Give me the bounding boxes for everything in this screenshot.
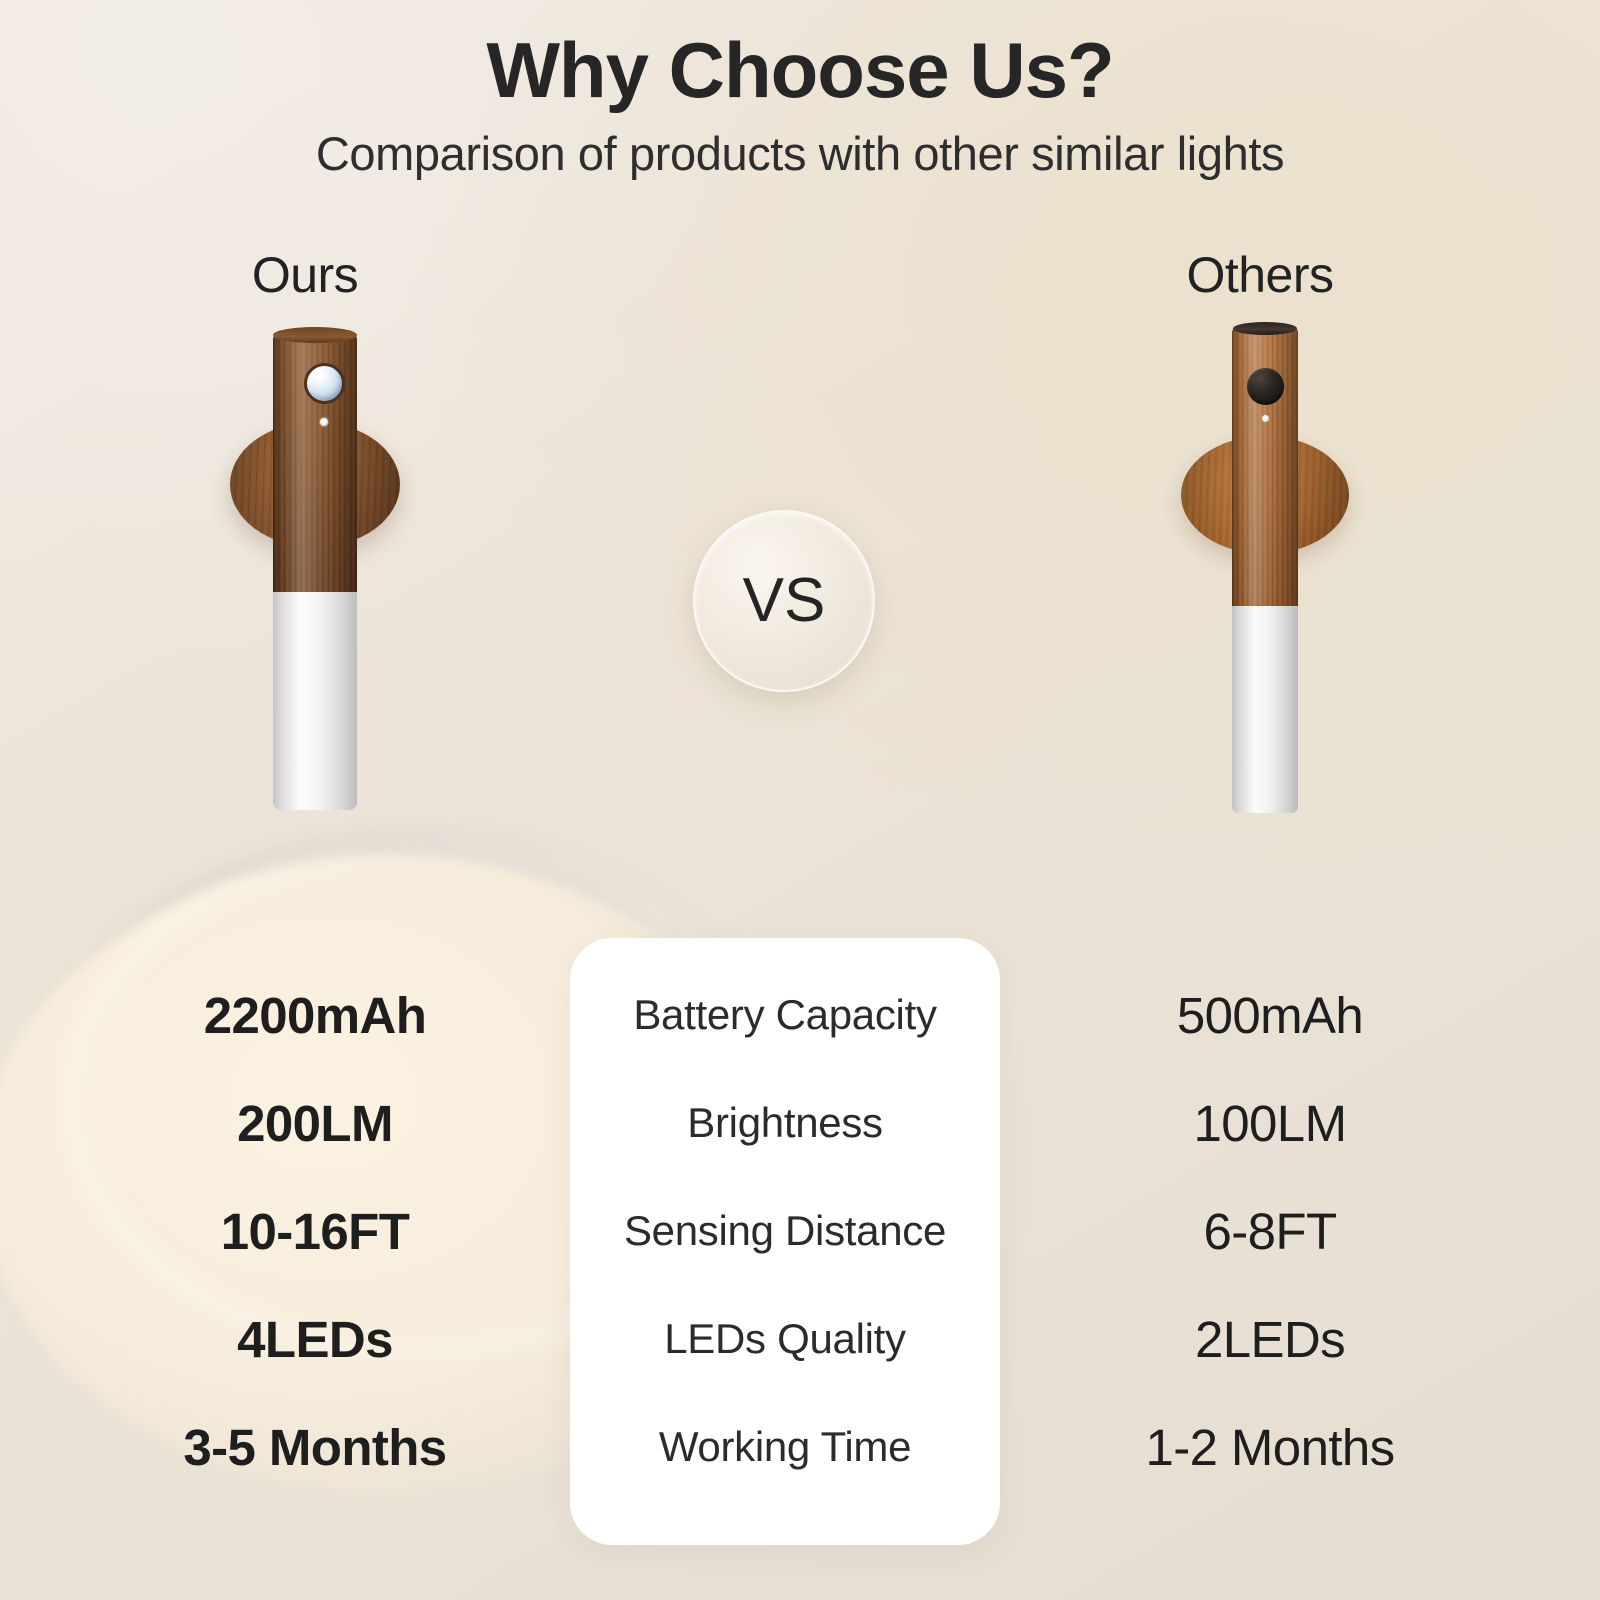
page-title: Why Choose Us? [0,28,1600,112]
cell-ours-value: 4LEDs [110,1284,520,1394]
page-subtitle: Comparison of products with other simila… [0,126,1600,181]
cell-others-value: 500mAh [1060,960,1480,1070]
vs-label: VS [743,570,826,632]
cell-feature-label: Brightness [570,1068,1000,1178]
cell-ours-value: 2200mAh [110,960,520,1070]
cylinder-top-cap-icon [1233,322,1297,335]
led-indicator-dot-icon [320,418,328,426]
white-lower-body-icon [273,592,357,810]
white-lower-body-icon [1232,606,1298,813]
column-header-others: Others [1060,246,1460,304]
header: Why Choose Us? Comparison of products wi… [0,28,1600,181]
cell-others-value: 100LM [1060,1068,1480,1178]
table-row: 200LM Brightness 100LM [0,1068,1600,1178]
cell-ours-value: 3-5 Months [110,1392,520,1502]
column-header-ours: Ours [105,246,505,304]
cell-feature-label: Battery Capacity [570,960,1000,1070]
cell-feature-label: LEDs Quality [570,1284,1000,1394]
cell-others-value: 2LEDs [1060,1284,1480,1394]
table-row: 2200mAh Battery Capacity 500mAh [0,960,1600,1070]
table-row: 3-5 Months Working Time 1-2 Months [0,1392,1600,1502]
led-indicator-dot-icon [1262,415,1269,422]
dark-sensor-dome-icon [1247,368,1284,405]
product-image-others [1175,318,1355,813]
table-row: 10-16FT Sensing Distance 6-8FT [0,1176,1600,1286]
cell-others-value: 1-2 Months [1060,1392,1480,1502]
cell-feature-label: Sensing Distance [570,1176,1000,1286]
cell-feature-label: Working Time [570,1392,1000,1502]
pir-motion-sensor-lens-icon [304,363,345,404]
table-row: 4LEDs LEDs Quality 2LEDs [0,1284,1600,1394]
cylinder-top-cap-icon [273,327,357,343]
infographic-canvas: Why Choose Us? Comparison of products wi… [0,0,1600,1600]
product-image-ours [225,330,405,810]
cell-ours-value: 10-16FT [110,1176,520,1286]
vs-badge: VS [693,510,875,692]
cell-others-value: 6-8FT [1060,1176,1480,1286]
cell-ours-value: 200LM [110,1068,520,1178]
